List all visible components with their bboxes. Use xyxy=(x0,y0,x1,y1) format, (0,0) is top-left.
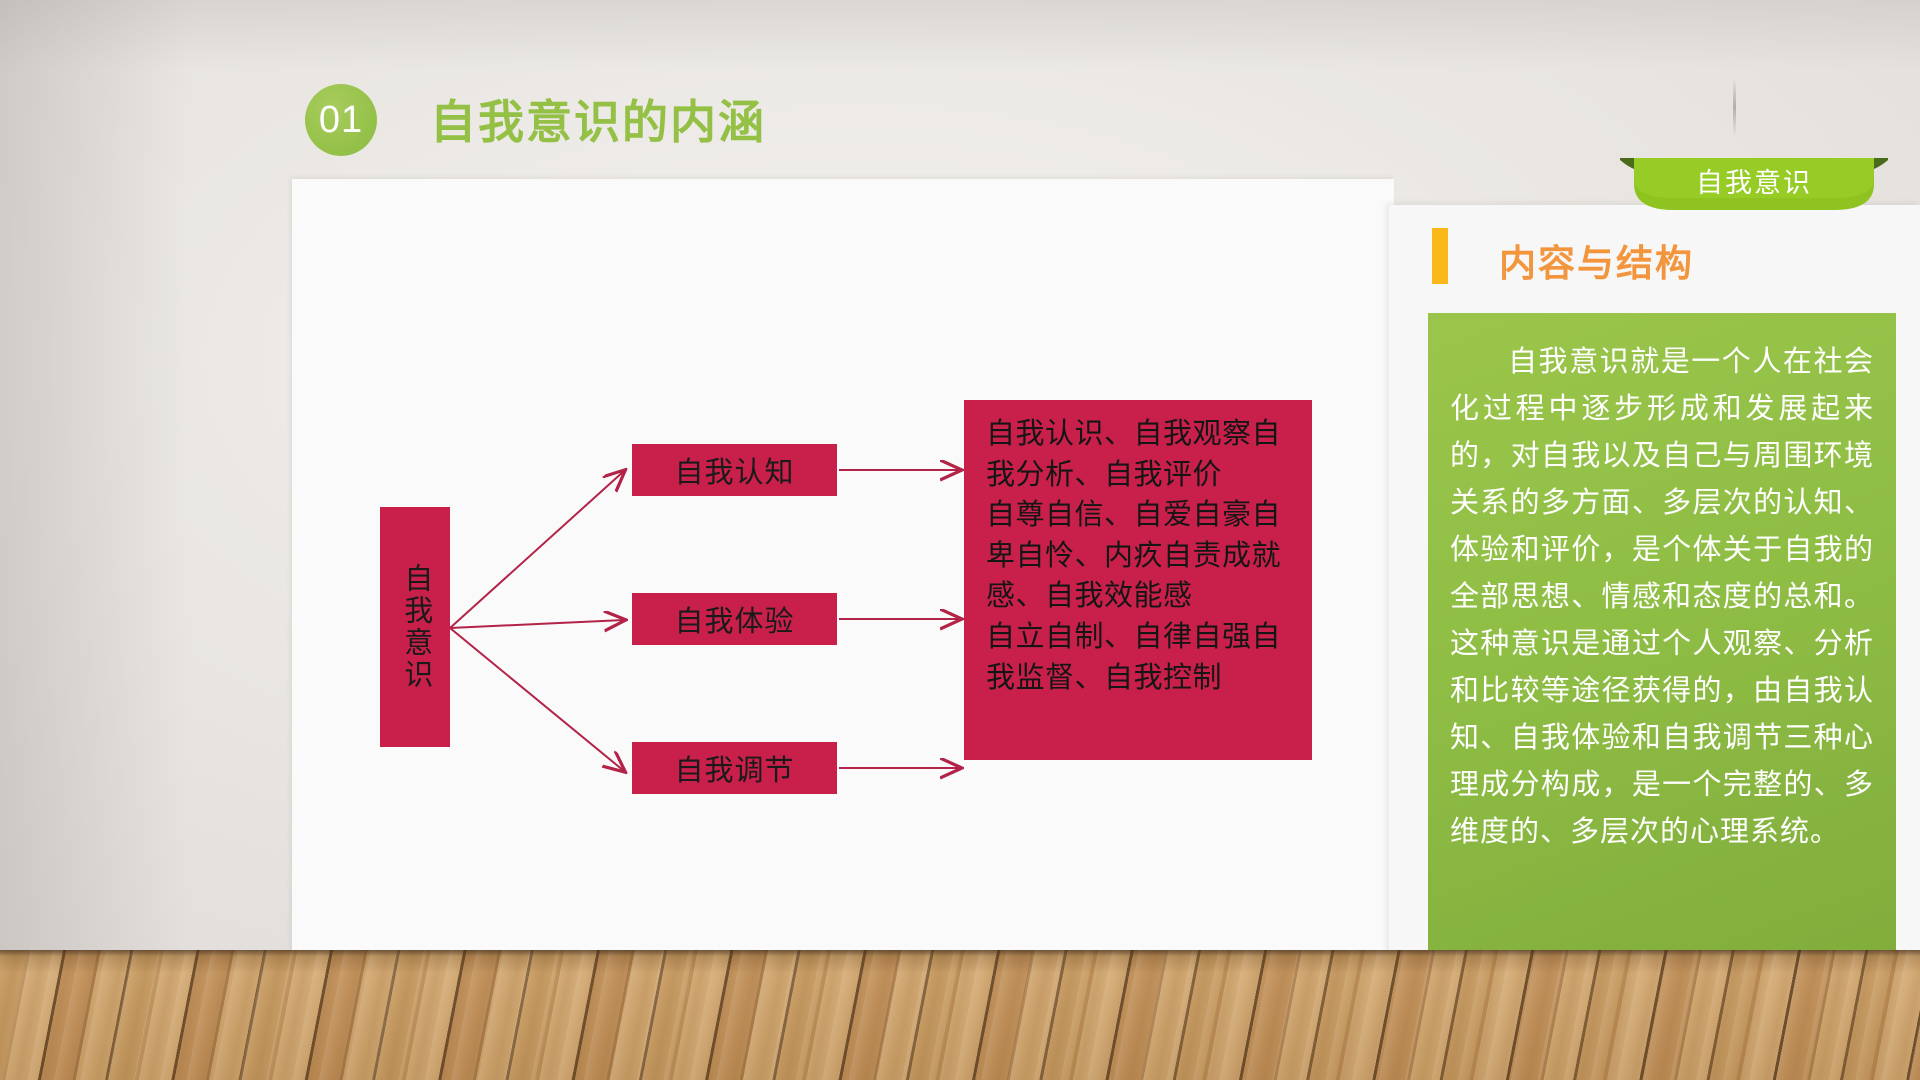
diagram-panel: 自我意识 自我认知 自我体验 自我调节 自我认识、自我观察自我分析、自我评价 自… xyxy=(292,179,1394,954)
page-title: 自我意识的内涵 xyxy=(430,86,766,152)
wall-shadow-left xyxy=(0,0,190,950)
concept-diagram: 自我意识 自我认知 自我体验 自我调节 自我认识、自我观察自我分析、自我评价 自… xyxy=(292,179,1394,954)
diagram-node-self-experience[interactable]: 自我体验 xyxy=(632,593,837,645)
section-number-badge: 01 xyxy=(305,84,377,156)
section-accent-bar xyxy=(1432,228,1448,284)
arrow-root-to-branch1 xyxy=(450,471,624,628)
diagram-node-self-regulation[interactable]: 自我调节 xyxy=(632,742,837,794)
ribbon-tab[interactable]: 自我意识 xyxy=(1620,158,1888,213)
description-box: 自我意识就是一个人在社会化过程中逐步形成和发展起来的，对自我以及自己与周围环境关… xyxy=(1428,313,1896,952)
detail-line-cognition: 自我认识、自我观察自我分析、自我评价 xyxy=(986,414,1296,495)
wall-divider-line xyxy=(1733,78,1736,136)
floor-grain-overlay xyxy=(0,950,1920,1080)
floor-wall-edge xyxy=(0,950,1920,956)
ribbon-tab-label: 自我意识 xyxy=(1620,158,1888,208)
diagram-detail-box[interactable]: 自我认识、自我观察自我分析、自我评价 自尊自信、自爱自豪自卑自怜、内疚自责成就感… xyxy=(964,400,1312,760)
section-title: 内容与结构 xyxy=(1499,233,1694,287)
detail-line-regulation: 自立自制、自律自强自我监督、自我控制 xyxy=(986,617,1296,698)
arrow-root-to-branch3 xyxy=(450,628,624,771)
wooden-floor xyxy=(0,950,1920,1080)
description-text: 自我意识就是一个人在社会化过程中逐步形成和发展起来的，对自我以及自己与周围环境关… xyxy=(1450,339,1874,856)
diagram-node-root[interactable]: 自我意识 xyxy=(380,507,450,747)
arrow-root-to-branch2 xyxy=(450,620,624,628)
slide-stage: 01 自我意识的内涵 自我意识 xyxy=(0,0,1920,1080)
diagram-node-self-cognition[interactable]: 自我认知 xyxy=(632,444,837,496)
detail-line-experience: 自尊自信、自爱自豪自卑自怜、内疚自责成就感、自我效能感 xyxy=(986,495,1296,617)
wall-shadow-top xyxy=(0,0,1920,70)
